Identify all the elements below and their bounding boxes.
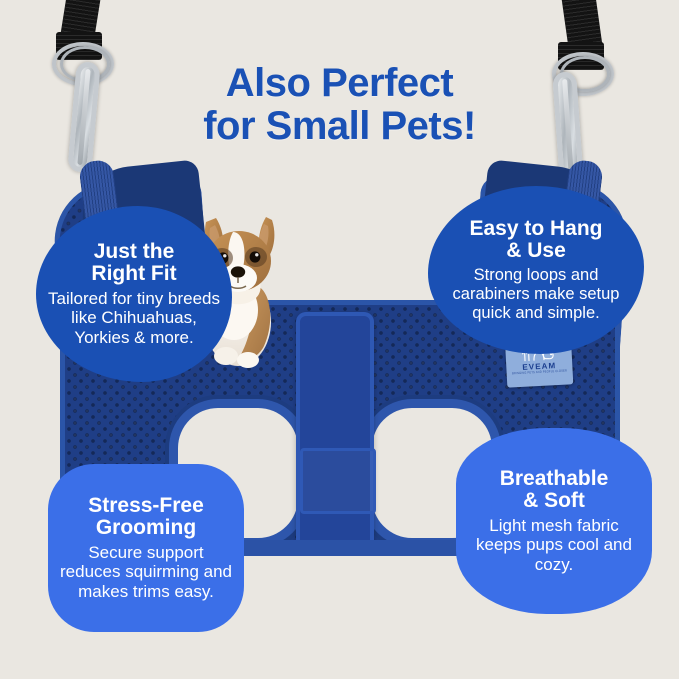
title-line-2: for Small Pets! bbox=[0, 105, 679, 148]
callout-easy-to-hang-and-use: Easy to Hang & Use Strong loops and cara… bbox=[428, 186, 644, 354]
callout-title-line-2: Grooming bbox=[96, 516, 196, 539]
callout-title-line-2: & Soft bbox=[523, 489, 585, 512]
callout-body: Tailored for tiny breeds like Chihuahuas… bbox=[46, 289, 222, 347]
callout-title-line-2: & Use bbox=[506, 239, 566, 262]
brand-tagline: BRINGING PETS AND PEOPLE CLOSER bbox=[512, 370, 567, 376]
callout-title: Easy to Hang & Use bbox=[469, 218, 602, 263]
callout-just-the-right-fit: Just the Right Fit Tailored for tiny bre… bbox=[36, 206, 232, 382]
callout-title: Breathable & Soft bbox=[500, 468, 609, 513]
callout-title-line-1: Easy to Hang bbox=[469, 217, 602, 240]
callout-title: Just the Right Fit bbox=[91, 241, 176, 286]
callout-body: Light mesh fabric keeps pups cool and co… bbox=[466, 516, 642, 574]
title-line-1: Also Perfect bbox=[226, 61, 453, 105]
callout-title-line-1: Stress-Free bbox=[88, 494, 204, 517]
callout-title-line-1: Just the bbox=[94, 240, 175, 263]
callout-title-line-1: Breathable bbox=[500, 467, 609, 490]
infographic-canvas: EVEAM BRINGING PETS AND PEOPLE CLOSER bbox=[0, 0, 679, 679]
harness-center-velcro-flap bbox=[296, 312, 374, 562]
callout-title-line-2: Right Fit bbox=[91, 262, 176, 285]
page-title: Also Perfect for Small Pets! bbox=[0, 62, 679, 148]
callout-title: Stress-Free Grooming bbox=[88, 495, 204, 540]
callout-breathable-and-soft: Breathable & Soft Light mesh fabric keep… bbox=[456, 428, 652, 614]
callout-body: Strong loops and carabiners make setup q… bbox=[438, 266, 634, 322]
callout-stress-free-grooming: Stress-Free Grooming Secure support redu… bbox=[48, 464, 244, 632]
callout-body: Secure support reduces squirming and mak… bbox=[58, 543, 234, 601]
harness-velcro-seam bbox=[300, 448, 376, 514]
